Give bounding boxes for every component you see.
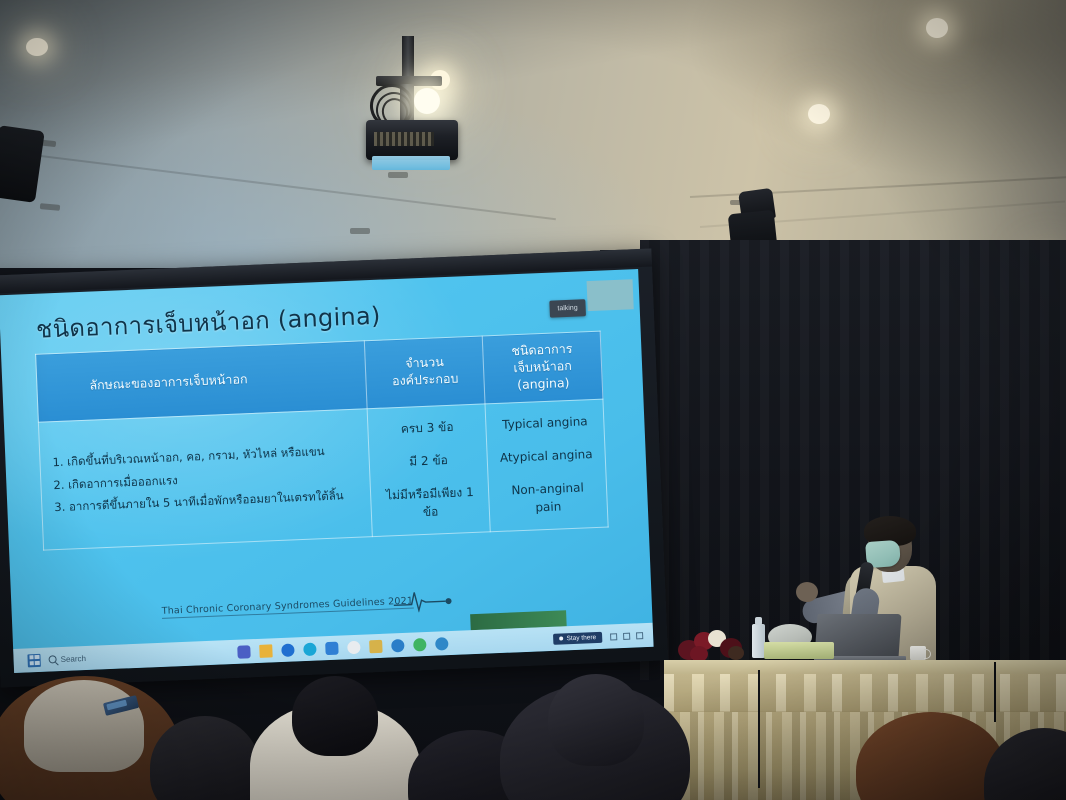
ceiling-projector (352, 36, 472, 166)
table-header-type-line2: เจ็บหน้าอก (angina) (490, 357, 596, 395)
ceiling-downlight (808, 104, 830, 124)
tray-icon[interactable] (610, 633, 617, 640)
tray-icon[interactable] (636, 632, 643, 639)
lecture-hall-scene: ชนิดอาการเจ็บหน้าอก (angina) ลักษณะของอา… (0, 0, 1066, 800)
ceiling-vent (388, 172, 408, 178)
taskbar-right-group: Stay there (553, 629, 653, 644)
count-cell: ครบ 3 ข้อ มี 2 ข้อ ไม่มีหรือมีเพียง 1 ข้… (367, 404, 490, 537)
audience-head (292, 676, 378, 756)
ecg-waveform-icon (393, 584, 464, 613)
count-value: มี 2 ข้อ (377, 442, 479, 479)
audience-head (984, 728, 1066, 800)
type-value: Atypical angina (495, 438, 597, 475)
criteria-cell: 1. เกิดขึ้นที่บริเวณหน้าอก, คอ, กราม, หั… (38, 408, 372, 549)
presenter-left-hand (796, 582, 818, 602)
projector-lens-panel (372, 156, 450, 170)
criteria-list: 1. เกิดขึ้นที่บริเวณหน้าอก, คอ, กราม, หั… (48, 442, 363, 517)
projector-lens-glow (414, 88, 440, 114)
presentation-slide: ชนิดอาการเจ็บหน้าอก (angina) ลักษณะของอา… (0, 269, 654, 673)
audience-head (548, 674, 644, 766)
powerpoint-icon[interactable] (435, 637, 449, 651)
notification-badge[interactable]: Stay there (553, 631, 602, 644)
type-value: Typical angina (494, 405, 596, 442)
table-header-count: จำนวน องค์ประกอบ (365, 336, 485, 408)
angina-table: ลักษณะของอาการเจ็บหน้าอก จำนวน องค์ประกอ… (35, 331, 609, 551)
badge-dot-icon (559, 636, 563, 640)
projection-screen: ชนิดอาการเจ็บหน้าอก (angina) ลักษณะของอา… (0, 248, 668, 687)
table-row: 1. เกิดขึ้นที่บริเวณหน้าอก, คอ, กราม, หั… (38, 399, 608, 550)
system-tray[interactable] (610, 632, 643, 640)
table-header-type: ชนิดอาการ เจ็บหน้าอก (angina) (482, 331, 603, 403)
count-value: ครบ 3 ข้อ (376, 409, 478, 446)
presenter-tooltip: talking (549, 299, 586, 317)
audience-hood (24, 680, 144, 772)
ceiling-vent (350, 228, 370, 234)
count-value: ไม่มีหรือมีเพียง 1 ข้อ (379, 475, 482, 530)
ceiling-downlight (926, 18, 948, 38)
projector-vent (374, 132, 434, 146)
audience (0, 650, 1066, 800)
tray-icon[interactable] (623, 632, 630, 639)
ceiling-downlight (26, 38, 48, 56)
type-value: Non-anginal pain (497, 471, 600, 526)
window-control-overlay[interactable] (587, 279, 634, 311)
status-badge: Stay there (566, 634, 596, 642)
table-header-count-line2: องค์ประกอบ (373, 370, 478, 391)
type-cell: Typical angina Atypical angina Non-angin… (485, 399, 608, 532)
slide-footer: Thai Chronic Coronary Syndromes Guidelin… (161, 589, 461, 619)
slide-source-citation: Thai Chronic Coronary Syndromes Guidelin… (162, 596, 414, 619)
